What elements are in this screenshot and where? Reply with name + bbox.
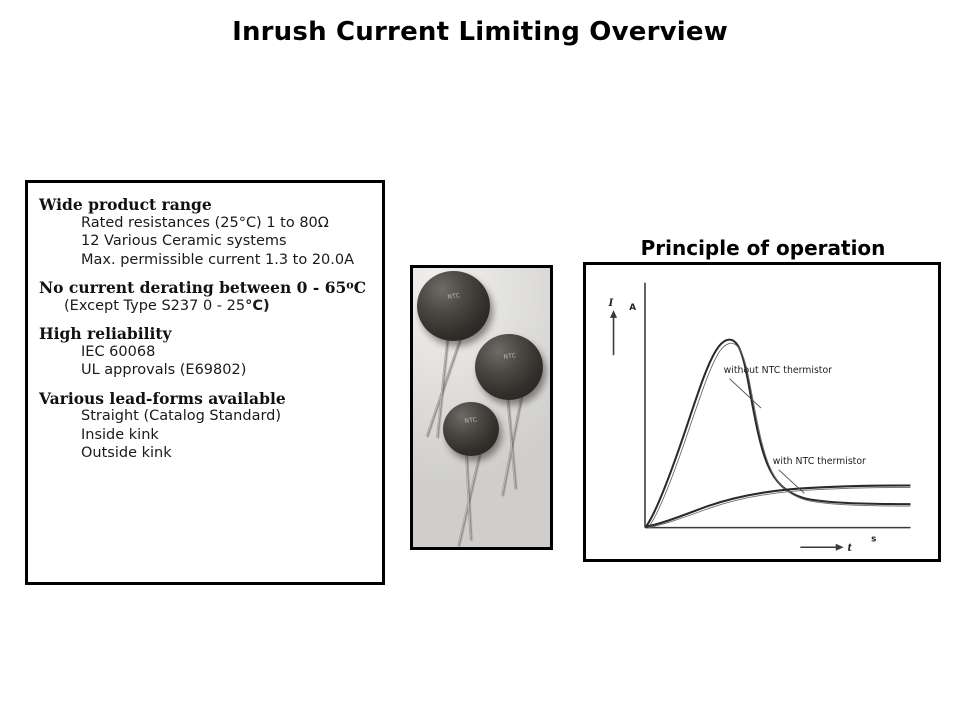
thermistor-disc [443, 402, 499, 456]
feature-group-heading: High reliability [36, 326, 374, 342]
thermistor-lead [506, 393, 516, 489]
feature-list-box: Wide product range Rated resistances (25… [25, 180, 385, 585]
x-axis-symbol-label: t [848, 543, 853, 554]
chart-heading: Principle of operation [583, 236, 943, 260]
feature-list-item: UL approvals (E69802) [36, 363, 374, 378]
feature-list-item: 12 Various Ceramic systems [36, 234, 374, 249]
x-axis-arrowhead [836, 544, 844, 551]
product-photo: NTC NTC NTC [410, 265, 553, 550]
degree-symbol: o [346, 278, 353, 291]
feature-list-item: Max. permissible current 1.3 to 20.0A [36, 253, 374, 268]
series-with-ntc-thermistor [646, 486, 910, 528]
heading-text: No current derating between 0 - 65 [39, 278, 346, 297]
y-axis-symbol-label: I [608, 298, 614, 309]
chart-svg: A I s t without NTC thermistor with NTC … [586, 265, 938, 559]
feature-group-heading: Various lead-forms available [36, 391, 374, 407]
photo-scene: NTC NTC NTC [413, 268, 550, 547]
feature-list-item: Rated resistances (25°C) 1 to 80Ω [36, 216, 374, 231]
annotation-with-ntc: with NTC thermistor [773, 456, 866, 467]
except-text: (Except Type S237 0 - 25 [64, 298, 245, 314]
principle-of-operation-chart: A I s t without NTC thermistor with NTC … [583, 262, 941, 562]
feature-list-item: Straight (Catalog Standard) [36, 409, 374, 424]
feature-list-item: IEC 60068 [36, 345, 374, 360]
thermistor-disc [475, 334, 543, 400]
feature-group-heading: No current derating between 0 - 65oC [36, 280, 374, 296]
annotation-without-ntc: without NTC thermistor [724, 365, 833, 376]
y-axis-arrowhead [610, 310, 617, 318]
thermistor-disc [417, 271, 490, 341]
feature-list-item: Outside kink [36, 446, 374, 461]
x-axis-unit-label: s [871, 534, 876, 544]
feature-group-heading: Wide product range [36, 197, 374, 213]
feature-list-item: Inside kink [36, 428, 374, 443]
annotation-leader-line [730, 379, 761, 408]
heading-unit: C [354, 278, 366, 297]
y-axis-unit-label: A [629, 303, 636, 313]
except-unit: C) [252, 298, 269, 314]
feature-list-item: (Except Type S237 0 - 25°C) [36, 299, 374, 314]
page-title: Inrush Current Limiting Overview [0, 17, 960, 47]
